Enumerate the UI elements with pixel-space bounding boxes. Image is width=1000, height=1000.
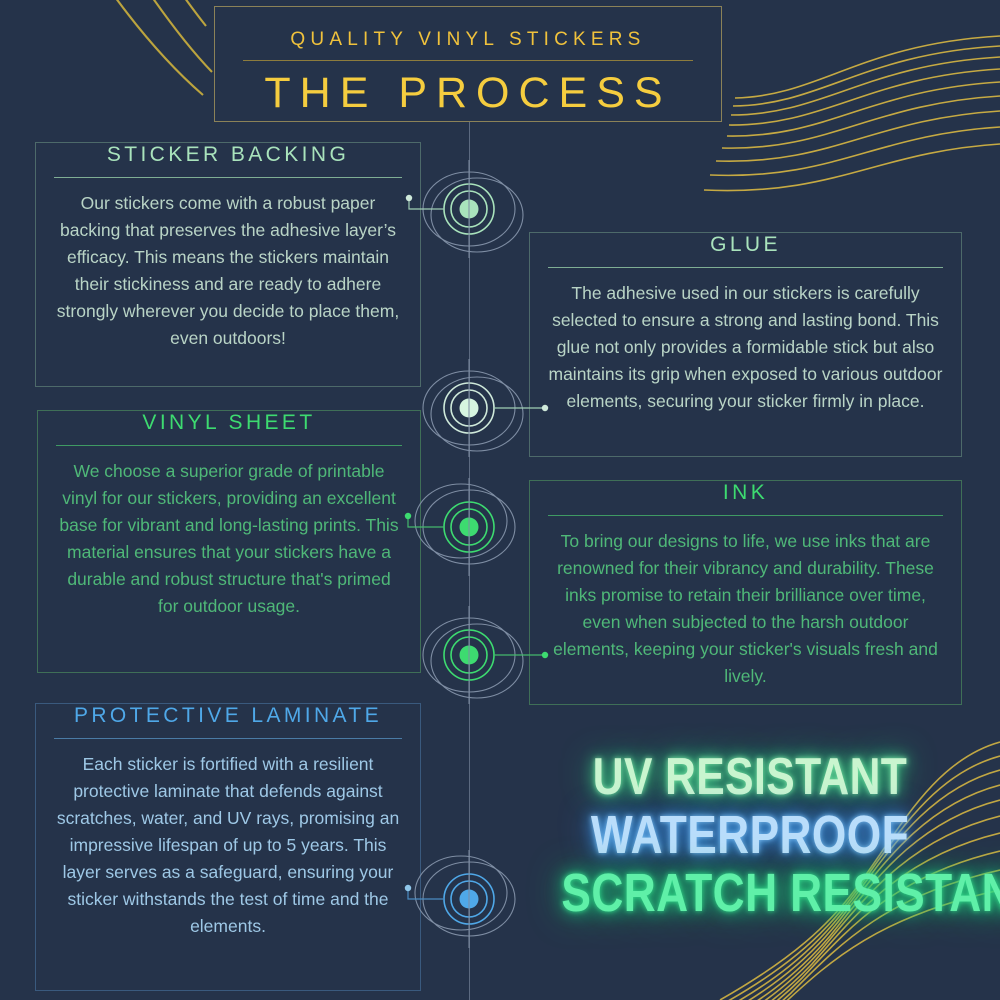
title-banner: QUALITY VINYL STICKERS THE PROCESS [214,6,722,122]
card-divider [548,515,943,516]
card-title: VINYL SHEET [56,411,402,435]
infographic-page: QUALITY VINYL STICKERS THE PROCESS STICK… [0,0,1000,1000]
node-vinyl-sheet[interactable] [405,478,515,576]
card-divider [54,738,402,739]
timeline-spine [469,122,470,1000]
card-body: We choose a superior grade of printable … [56,458,402,620]
feature-scratch-resistant: SCRATCH RESISTANT [561,864,938,922]
card-title: INK [548,481,943,505]
card-divider [56,445,402,446]
feature-uv-resistant: UV RESISTANT [561,748,938,806]
card-body: Our stickers come with a robust paper ba… [54,190,402,352]
node-sticker-backing[interactable] [406,160,523,258]
top-right-wave-lines [704,36,1000,191]
card-body: To bring our designs to life, we use ink… [548,528,943,690]
card-glue[interactable]: GLUE The adhesive used in our stickers i… [529,232,962,457]
feature-waterproof: WATERPROOF [561,806,938,864]
card-divider [54,177,402,178]
node-protective-laminate[interactable] [405,850,515,948]
card-sticker-backing[interactable]: STICKER BACKING Our stickers come with a… [35,142,421,387]
page-title: THE PROCESS [215,69,721,118]
card-vinyl-sheet[interactable]: VINYL SHEET We choose a superior grade o… [37,410,421,673]
card-title: PROTECTIVE LAMINATE [54,704,402,728]
card-body: Each sticker is fortified with a resilie… [54,751,402,940]
card-divider [548,267,943,268]
card-title: GLUE [548,233,943,257]
top-left-diagonal-lines [96,0,212,95]
card-body: The adhesive used in our stickers is car… [548,280,943,415]
feature-highlights: UV RESISTANT WATERPROOF SCRATCH RESISTAN… [520,748,980,922]
card-protective-laminate[interactable]: PROTECTIVE LAMINATE Each sticker is fort… [35,703,421,991]
title-kicker: QUALITY VINYL STICKERS [215,29,721,51]
card-ink[interactable]: INK To bring our designs to life, we use… [529,480,962,705]
title-divider [243,60,693,61]
card-title: STICKER BACKING [54,143,402,167]
